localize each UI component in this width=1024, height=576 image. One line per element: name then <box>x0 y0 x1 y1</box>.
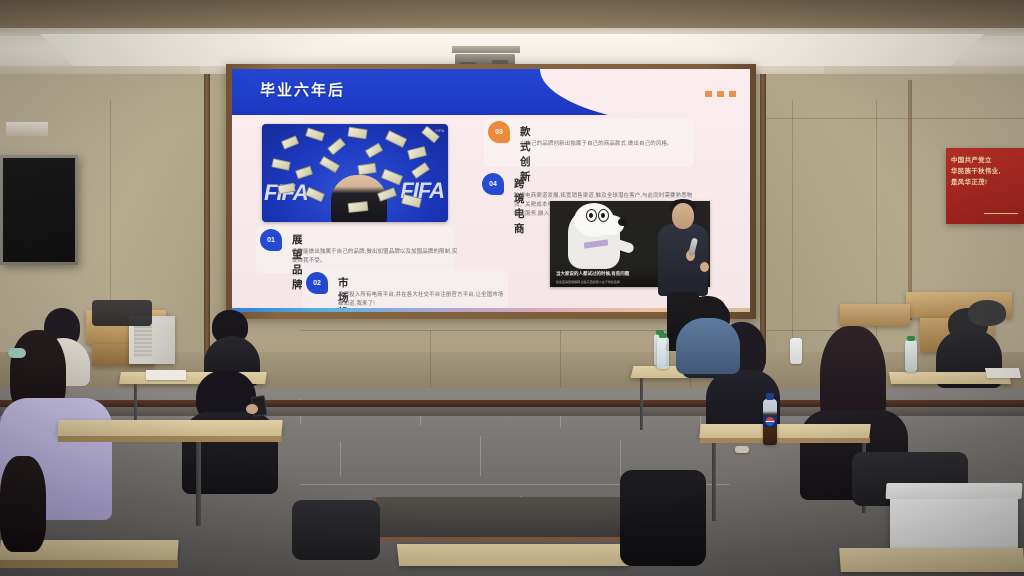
deco-square-3 <box>729 91 736 97</box>
wall-panel-seam <box>760 118 1024 119</box>
dog-nose <box>618 218 627 226</box>
pepsi-label <box>763 415 777 427</box>
small-item <box>735 446 749 453</box>
bullet-desc: 品牌投入所有电商平台,并在各大社交平台注册官方平台,让全国市场都知道,我来了! <box>338 291 506 309</box>
desk-edge <box>0 560 178 568</box>
bullet-badge: 04 <box>482 173 504 195</box>
backpack <box>620 470 706 566</box>
banknote <box>348 201 369 213</box>
presenter-torso <box>658 224 708 296</box>
party-slogan-banner: 中国共产党立 华民族干秋伟业, 是风华正茂! <box>946 148 1024 224</box>
bullet-badge: 01 <box>260 229 282 251</box>
bullet-title: 款式创新 <box>520 124 531 184</box>
classroom-presentation-photo: 中国共产党立 华民族干秋伟业, 是风华正茂! 毕业六年后 <box>0 0 1024 576</box>
hair-scrunchie <box>8 348 26 358</box>
tv-screen <box>3 158 75 262</box>
desk <box>397 544 629 566</box>
dog-pupil-right <box>601 213 605 218</box>
bullet-badge: 02 <box>306 272 328 294</box>
audience-hair <box>968 300 1006 326</box>
room: 中国共产党立 华民族干秋伟业, 是风华正茂! 毕业六年后 <box>0 0 1024 576</box>
paper-sheet <box>146 370 186 380</box>
bottle-cap <box>907 336 915 341</box>
wall-panel-seam <box>430 330 431 390</box>
banner-line-2: 华民族干秋伟业, <box>951 166 1019 177</box>
carpet-seam <box>480 436 481 476</box>
audience-body-denim <box>676 318 740 374</box>
chair <box>92 300 152 326</box>
fifa-money-photo: FIFA FIFA FIFA <box>262 124 448 222</box>
bottle-cap <box>659 333 667 338</box>
presenter-head <box>672 203 694 229</box>
dog-caption-line-2: 就会变得很难解释,这些东西的意义在于你的选择 <box>556 280 620 284</box>
wall-trim-left <box>204 74 210 364</box>
speaker-grill <box>134 324 152 358</box>
fifa-corner-note: FIFA <box>436 128 444 133</box>
bullet-desc: 希望能做出独属于自己的品牌,做出加盟品牌以及加盟品牌的限制,实现自我不受。 <box>292 248 460 266</box>
ceiling-beam <box>0 0 1024 30</box>
pepsi-bottle <box>763 399 777 445</box>
tv-shelf <box>6 122 48 136</box>
wall-panel-seam <box>300 330 860 331</box>
desk-leg <box>712 443 716 521</box>
projector-arm <box>452 46 520 53</box>
audience-hand <box>246 404 258 414</box>
slide-decoration-squares <box>705 91 736 97</box>
water-bottle <box>905 340 917 372</box>
audience-hair-long <box>0 456 46 552</box>
chair <box>292 500 380 560</box>
deco-square-1 <box>705 91 712 97</box>
wall-mounted-tv[interactable] <box>0 155 78 265</box>
desk <box>839 548 1024 572</box>
box-lid <box>886 483 1023 499</box>
bottle-cap <box>766 393 774 400</box>
desk <box>57 420 282 436</box>
presenter-hand-free <box>700 262 709 272</box>
thermos-bottle <box>790 338 802 364</box>
wall-panel-seam <box>560 330 561 390</box>
carpet-seam <box>340 442 341 476</box>
carpet-seam <box>620 440 621 476</box>
slide-title: 毕业六年后 <box>260 79 345 100</box>
desk-edge <box>58 436 283 442</box>
lectern-right-wing <box>840 304 910 326</box>
banner-underline <box>984 213 1018 215</box>
dog-caption-line-1: 当大家说的人都试过的时候,有些问题 <box>556 271 629 277</box>
water-bottle <box>657 337 669 369</box>
bullet-badge: 03 <box>488 121 510 143</box>
bullet-desc: 以自己的品牌创新出独属于自己的商品款式,做出自己的风格。 <box>520 140 688 149</box>
desk-leg <box>640 378 643 430</box>
deco-square-2 <box>717 91 724 97</box>
wall-trim-right <box>760 74 766 364</box>
banner-line-3: 是风华正茂! <box>951 177 1019 188</box>
wall-panel-seam <box>792 100 793 350</box>
wall-trim-far-right <box>908 80 912 320</box>
banner-line-1: 中国共产党立 <box>951 155 1019 166</box>
desk-edge <box>700 438 871 443</box>
paper-sheet <box>985 368 1021 378</box>
desk <box>699 424 870 438</box>
dog-pupil-left <box>589 213 593 218</box>
pepsi-logo-icon <box>766 417 775 426</box>
desk-leg <box>196 442 201 526</box>
